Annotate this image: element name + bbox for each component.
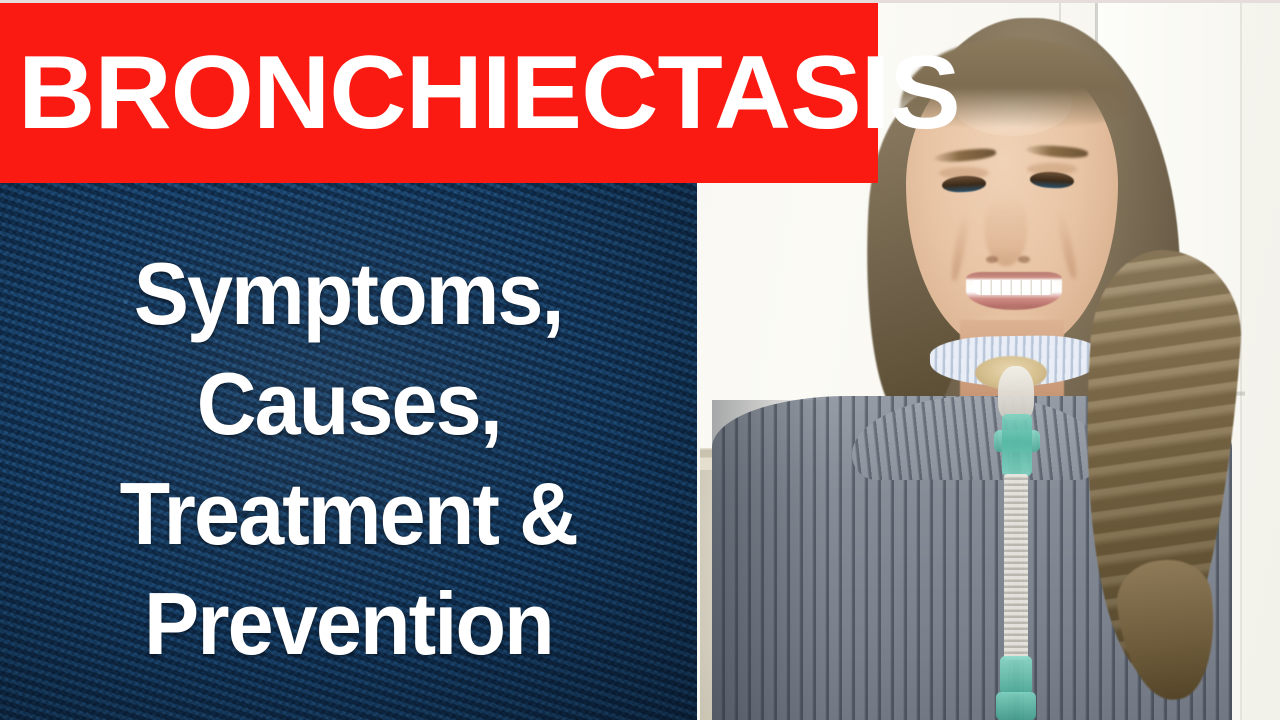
ventilator-connector-bottom	[996, 692, 1036, 720]
ventilator-tubing	[1004, 474, 1028, 660]
subtitle-line-4: Prevention	[144, 569, 553, 679]
tracheostomy-hub	[998, 366, 1034, 420]
ventilator-connector-lower	[1000, 656, 1032, 694]
subtitle-line-2: Causes,	[196, 349, 500, 459]
nostril-left	[986, 256, 998, 263]
ventilator-connector	[1002, 414, 1032, 476]
video-thumbnail: BRONCHIECTASIS Symptoms, Causes, Treatme…	[0, 0, 1280, 720]
title-banner: BRONCHIECTASIS	[0, 3, 878, 183]
page-title: BRONCHIECTASIS	[18, 41, 960, 145]
nostril-right	[1018, 256, 1030, 263]
teeth	[972, 280, 1056, 295]
subtitle-text-block: Symptoms, Causes, Treatment & Prevention	[0, 183, 697, 720]
subtitle-panel: Symptoms, Causes, Treatment & Prevention	[0, 183, 697, 720]
subtitle-line-3: Treatment &	[120, 459, 577, 569]
subtitle-line-1: Symptoms,	[134, 239, 563, 349]
sweater-shadow	[712, 400, 832, 720]
